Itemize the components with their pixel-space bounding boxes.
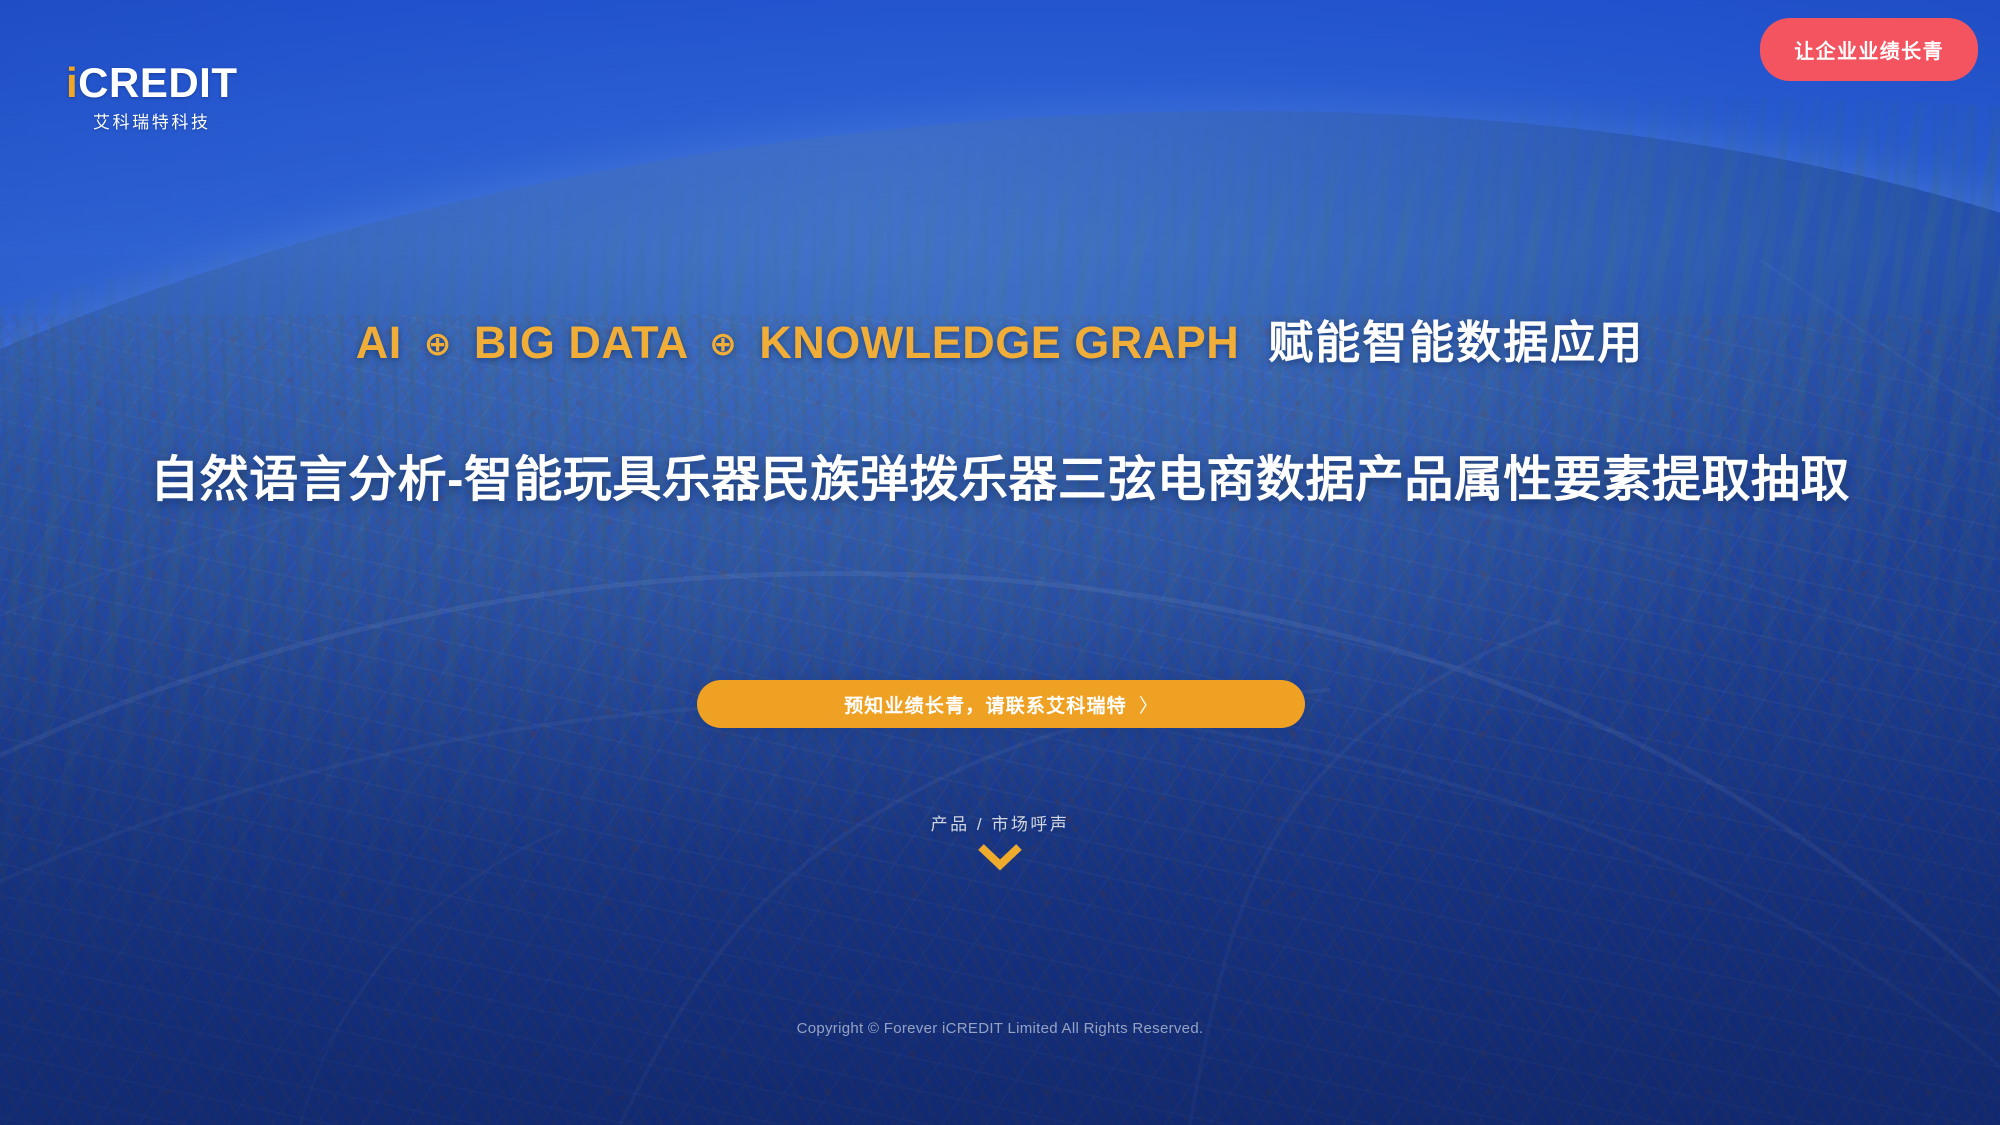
circled-plus-icon-2: ⊕ [709,325,737,362]
brand-logo[interactable]: iCREDIT 艾科瑞特科技 [66,62,238,131]
scroll-down-button[interactable] [0,843,2000,871]
brand-logo-wordmark: iCREDIT [66,62,238,104]
chevron-down-icon [976,843,1024,871]
contact-cta-button[interactable]: 预知业绩长青，请联系艾科瑞特 〉 [697,680,1305,728]
slogan-badge[interactable]: 让企业业绩长青 [1760,18,1978,81]
page-title: 自然语言分析-智能玩具乐器民族弹拨乐器三弦电商数据产品属性要素提取抽取 [0,440,2000,511]
tagline-big-data: BIG DATA [474,317,687,368]
tagline-knowledge-graph: KNOWLEDGE GRAPH [759,317,1239,368]
scroll-hint[interactable]: 产品 / 市场呼声 [0,810,2000,871]
brand-logo-initial: i [66,59,78,106]
contact-cta-label: 预知业绩长青，请联系艾科瑞特 [844,691,1127,718]
hero-tagline: AI ⊕ BIG DATA ⊕ KNOWLEDGE GRAPH 赋能智能数据应用 [0,306,2000,371]
circled-plus-icon-1: ⊕ [424,325,452,362]
tagline-ai: AI [356,317,402,368]
chevron-right-icon: 〉 [1139,691,1158,718]
scroll-hint-label: 产品 / 市场呼声 [0,810,2000,835]
brand-logo-word: CREDIT [78,59,237,106]
hero-section: iCREDIT 艾科瑞特科技 让企业业绩长青 AI ⊕ BIG DATA ⊕ K… [0,0,2000,1125]
tagline-chinese: 赋能智能数据应用 [1268,317,1644,368]
footer-copyright: Copyright © Forever iCREDIT Limited All … [0,1020,2000,1037]
hero-background-image [0,0,2000,1125]
background-vignette [0,0,2000,1125]
brand-logo-subtitle: 艾科瑞特科技 [66,114,238,131]
